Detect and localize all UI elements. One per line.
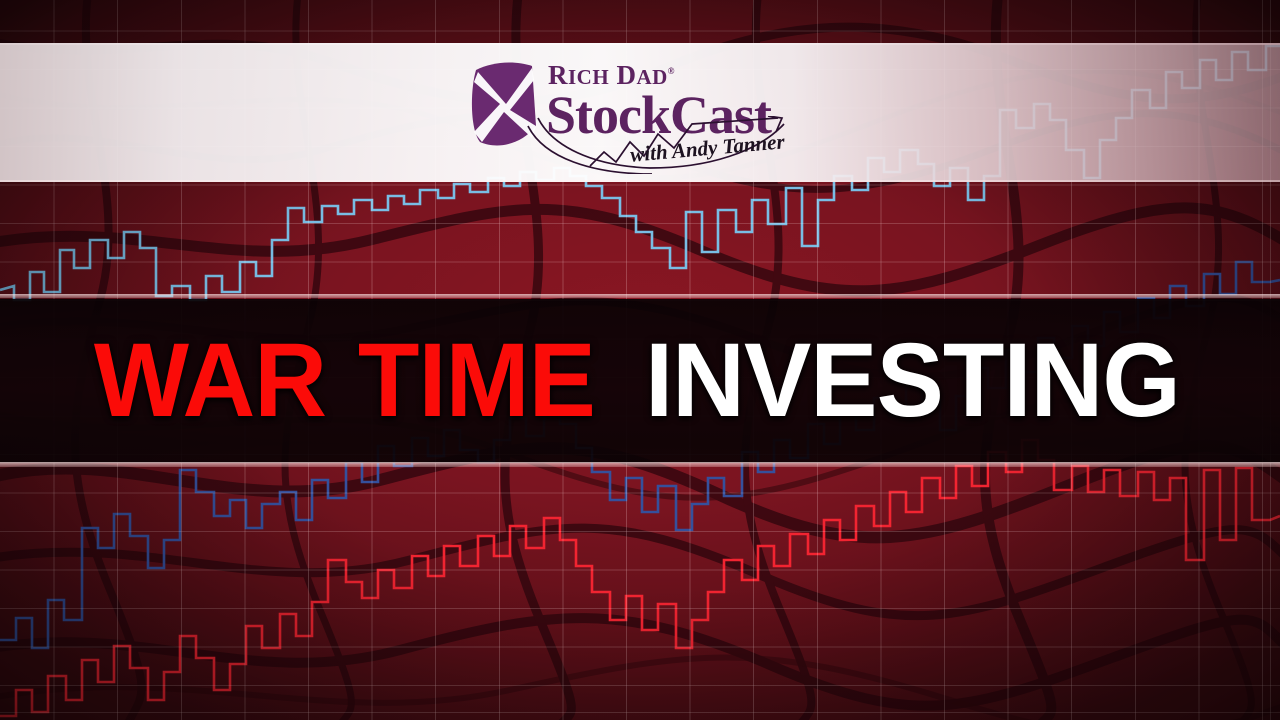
title-word-time: TIME — [358, 334, 595, 429]
title-band-top-rule — [0, 294, 1280, 298]
title-word-investing: INVESTING — [645, 334, 1180, 429]
page-title: WAR TIME INVESTING — [0, 299, 1280, 463]
title-word-war: WAR — [94, 334, 326, 429]
banner-bottom-rule — [0, 180, 1280, 182]
rich-dad-stockcast-logo: RICH DAD® StockCast with Andy Tanner — [462, 56, 812, 168]
registered-mark: ® — [668, 66, 675, 76]
video-thumbnail: RICH DAD® StockCast with Andy Tanner WAR… — [0, 0, 1280, 720]
